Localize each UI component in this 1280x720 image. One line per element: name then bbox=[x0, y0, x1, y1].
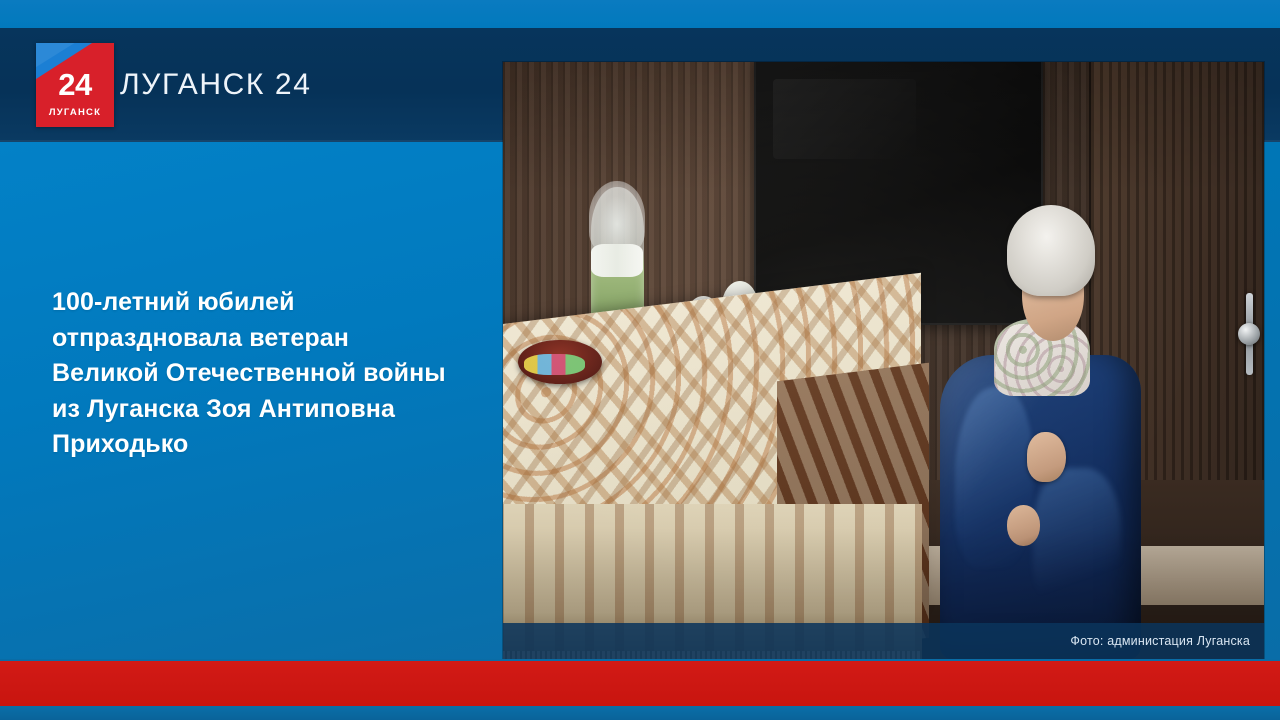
channel-name: ЛУГАНСК 24 bbox=[120, 68, 312, 102]
photo-scene bbox=[503, 62, 1264, 659]
logo-number: 24 bbox=[36, 69, 114, 100]
candy bbox=[524, 354, 585, 375]
hair bbox=[1007, 205, 1095, 296]
photo-credit-bar: Фото: администация Луганска bbox=[503, 623, 1264, 659]
door-knob bbox=[1238, 323, 1260, 345]
channel-logo[interactable]: 24 ЛУГАНСК bbox=[36, 43, 114, 127]
elderly-woman bbox=[929, 205, 1188, 659]
bottom-blue-band bbox=[0, 706, 1280, 720]
top-accent-strip bbox=[0, 0, 1280, 28]
bottom-red-band bbox=[0, 661, 1280, 706]
logo-city-label: ЛУГАНСК bbox=[36, 108, 114, 118]
logo-badge: 24 ЛУГАНСК bbox=[36, 43, 114, 127]
hand-lower bbox=[1007, 505, 1041, 546]
cone-white-flowers bbox=[591, 244, 643, 277]
headline: 100-летний юбилей отпраздновала ветеран … bbox=[52, 285, 452, 463]
news-card: 24 ЛУГАНСК ЛУГАНСК 24 100-летний юбилей … bbox=[0, 0, 1280, 720]
lap-highlight bbox=[1033, 468, 1121, 622]
photo-credit-text: Фото: администация Луганска bbox=[1070, 634, 1264, 648]
news-photo: Фото: администация Луганска bbox=[503, 62, 1264, 659]
hand-upper bbox=[1027, 432, 1066, 482]
